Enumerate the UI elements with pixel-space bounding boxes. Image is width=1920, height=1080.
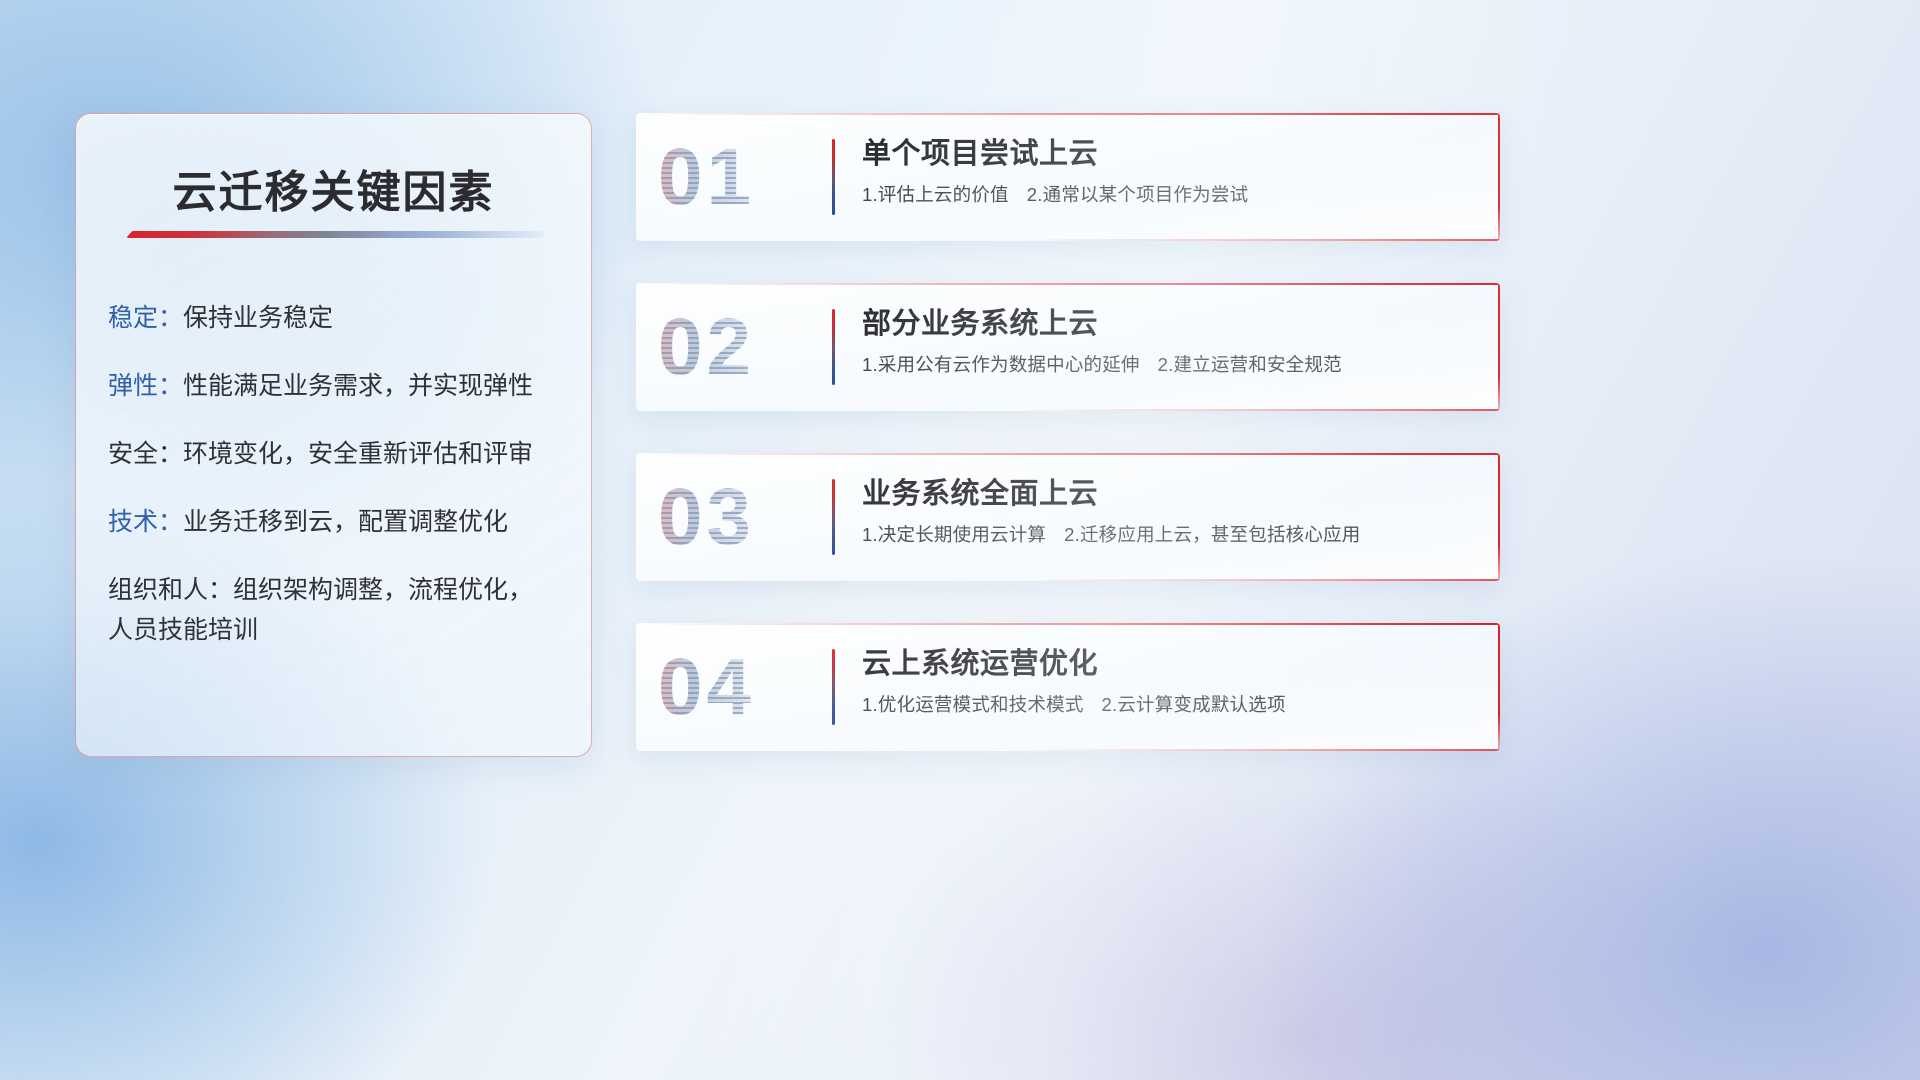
card-bottom-edge	[636, 239, 1500, 241]
factor-item-security: 安全：环境变化，安全重新评估和评审	[108, 438, 569, 470]
factor-label: 组织和人：	[108, 576, 233, 604]
factor-item-organization-continued: 人员技能培训	[108, 614, 569, 646]
factor-label: 弹性：	[108, 372, 183, 400]
card-description: 1.决定长期使用云计算2.迁移应用上云，甚至包括核心应用	[862, 523, 1472, 547]
factor-value: 组织架构调整，流程优化，	[233, 576, 533, 604]
card-text-block: 云上系统运营优化 1.优化运营模式和技术模式2.云计算变成默认选项	[862, 647, 1472, 717]
stage-card-04[interactable]: 04 云上系统运营优化 1.优化运营模式和技术模式2.云计算变成默认选项	[636, 623, 1500, 751]
factor-value: 业务迁移到云，配置调整优化	[183, 508, 508, 536]
card-number-watermark: 04	[658, 647, 755, 727]
card-text-block: 单个项目尝试上云 1.评估上云的价值2.通常以某个项目作为尝试	[862, 137, 1472, 207]
card-bottom-edge	[636, 579, 1500, 581]
factor-item-organization: 组织和人：组织架构调整，流程优化，	[108, 574, 569, 606]
factor-value: 环境变化，安全重新评估和评审	[183, 440, 533, 468]
card-bottom-edge	[636, 409, 1500, 411]
factor-label: 安全：	[108, 440, 183, 468]
card-number-watermark: 03	[658, 477, 755, 557]
card-text-block: 业务系统全面上云 1.决定长期使用云计算2.迁移应用上云，甚至包括核心应用	[862, 477, 1472, 547]
card-description: 1.评估上云的价值2.通常以某个项目作为尝试	[862, 183, 1472, 207]
factor-value: 性能满足业务需求，并实现弹性	[183, 372, 533, 400]
factor-item-stability: 稳定：保持业务稳定	[108, 302, 569, 334]
card-heading: 部分业务系统上云	[862, 307, 1472, 342]
key-factors-panel: 云迁移关键因素 稳定：保持业务稳定 弹性：性能满足业务需求，并实现弹性 安全：环…	[75, 113, 592, 757]
stage-card-03[interactable]: 03 业务系统全面上云 1.决定长期使用云计算2.迁移应用上云，甚至包括核心应用	[636, 453, 1500, 581]
factor-item-elasticity: 弹性：性能满足业务需求，并实现弹性	[108, 370, 569, 402]
card-heading: 云上系统运营优化	[862, 647, 1472, 682]
card-bottom-edge	[636, 749, 1500, 751]
card-description-part-1: 1.决定长期使用云计算	[862, 524, 1046, 545]
card-number-watermark: 02	[658, 307, 755, 387]
card-description: 1.优化运营模式和技术模式2.云计算变成默认选项	[862, 693, 1472, 717]
card-description-part-2: 2.云计算变成默认选项	[1102, 694, 1286, 715]
card-accent-bar	[832, 309, 835, 385]
factor-value: 保持业务稳定	[183, 304, 333, 332]
card-description-part-2: 2.建立运营和安全规范	[1158, 354, 1342, 375]
card-number-watermark: 01	[658, 137, 755, 217]
factor-list: 稳定：保持业务稳定 弹性：性能满足业务需求，并实现弹性 安全：环境变化，安全重新…	[108, 302, 569, 676]
stage-card-list: 01 单个项目尝试上云 1.评估上云的价值2.通常以某个项目作为尝试 02 部分…	[636, 113, 1500, 793]
card-description: 1.采用公有云作为数据中心的延伸2.建立运营和安全规范	[862, 353, 1472, 377]
card-description-part-1: 1.评估上云的价值	[862, 184, 1009, 205]
card-description-part-1: 1.采用公有云作为数据中心的延伸	[862, 354, 1140, 375]
page-title: 云迁移关键因素	[76, 156, 591, 220]
card-heading: 单个项目尝试上云	[862, 137, 1472, 172]
title-underline-gradient	[126, 231, 544, 238]
stage-card-01[interactable]: 01 单个项目尝试上云 1.评估上云的价值2.通常以某个项目作为尝试	[636, 113, 1500, 241]
factor-label: 技术：	[108, 508, 183, 536]
card-heading: 业务系统全面上云	[862, 477, 1472, 512]
card-description-part-2: 2.通常以某个项目作为尝试	[1027, 184, 1249, 205]
card-description-part-2: 2.迁移应用上云，甚至包括核心应用	[1064, 524, 1360, 545]
factor-item-technology: 技术：业务迁移到云，配置调整优化	[108, 506, 569, 538]
card-accent-bar	[832, 479, 835, 555]
factor-label: 稳定：	[108, 304, 183, 332]
slide-canvas: 云迁移关键因素 稳定：保持业务稳定 弹性：性能满足业务需求，并实现弹性 安全：环…	[0, 0, 1920, 1080]
stage-card-02[interactable]: 02 部分业务系统上云 1.采用公有云作为数据中心的延伸2.建立运营和安全规范	[636, 283, 1500, 411]
card-accent-bar	[832, 649, 835, 725]
card-description-part-1: 1.优化运营模式和技术模式	[862, 694, 1084, 715]
card-accent-bar	[832, 139, 835, 215]
card-text-block: 部分业务系统上云 1.采用公有云作为数据中心的延伸2.建立运营和安全规范	[862, 307, 1472, 377]
